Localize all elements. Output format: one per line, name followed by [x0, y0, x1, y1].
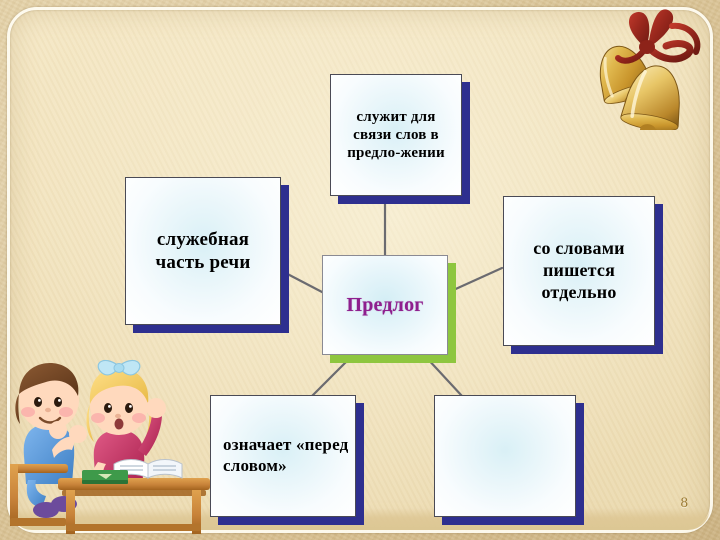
slide-canvas: служит для связи слов в предло-жении слу…: [0, 0, 720, 540]
node-center[interactable]: Предлог: [322, 255, 448, 355]
connector-center-right: [449, 268, 502, 292]
node-top[interactable]: служит для связи слов в предло-жении: [330, 74, 462, 196]
node-bottom-left[interactable]: означает «перед словом»: [210, 395, 356, 517]
node-right-label: со словами пишется отдельно: [504, 238, 654, 304]
node-bottom-right[interactable]: [434, 395, 576, 517]
node-right[interactable]: со словами пишется отдельно: [503, 196, 655, 346]
node-bottom-left-label: означает «перед словом»: [211, 435, 355, 476]
school-bells-icon: [584, 2, 716, 130]
node-top-label: служит для связи слов в предло-жении: [331, 108, 461, 163]
node-left[interactable]: служебная часть речи: [125, 177, 281, 325]
slide-number: 8: [681, 495, 689, 512]
node-center-label: Предлог: [323, 293, 447, 317]
node-left-label: служебная часть речи: [126, 228, 280, 274]
children-at-desk-illustration: [2, 338, 216, 534]
